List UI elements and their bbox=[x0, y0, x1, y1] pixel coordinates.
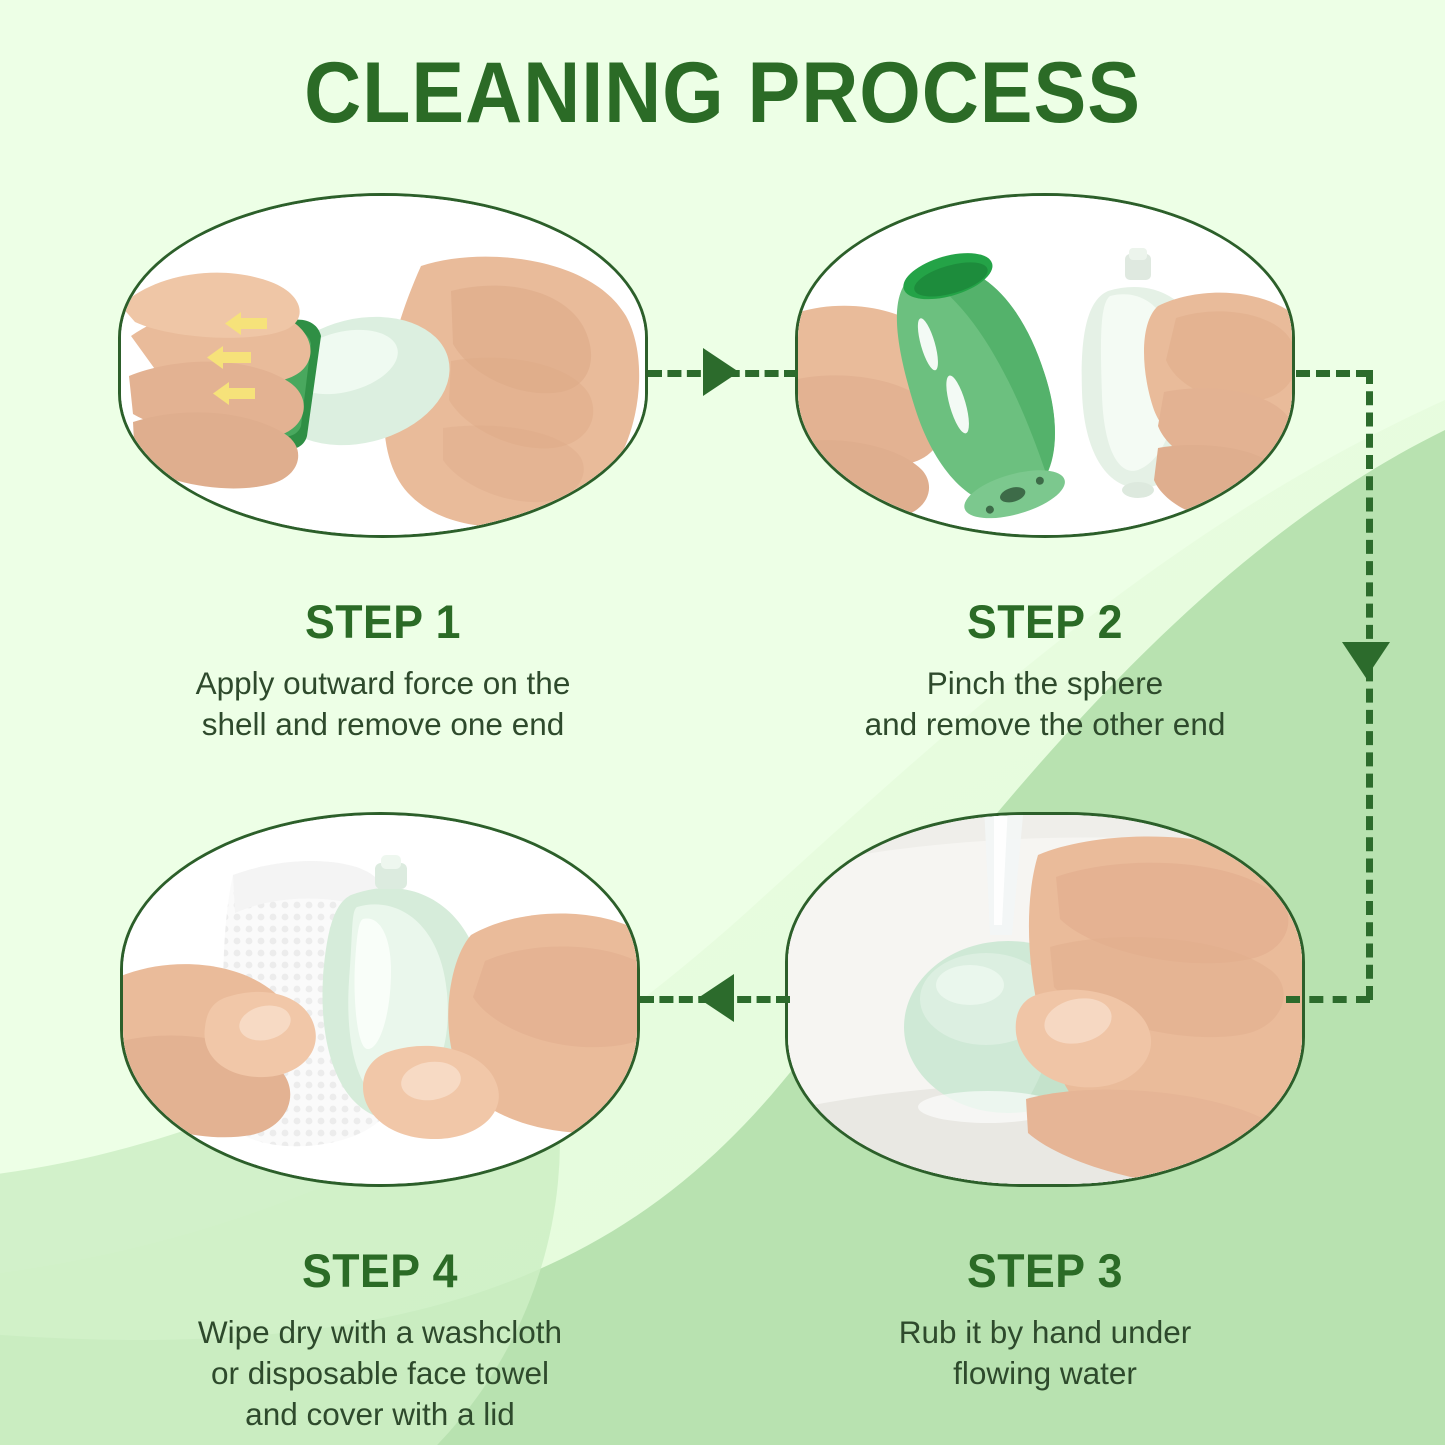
step-card-4: STEP 4 Wipe dry with a washcloth or disp… bbox=[120, 812, 640, 1435]
connector-1-to-2-arrowhead bbox=[703, 348, 739, 396]
step-3-title: STEP 3 bbox=[798, 1243, 1292, 1298]
step-2-description: Pinch the sphere and remove the other en… bbox=[795, 663, 1295, 745]
connector-2-to-3-top-segment bbox=[1296, 370, 1370, 377]
connector-2-to-3-bottom-segment bbox=[1286, 996, 1370, 1003]
step-4-illustration bbox=[123, 815, 640, 1187]
step-3-photo bbox=[785, 812, 1305, 1187]
step-2-illustration bbox=[798, 196, 1295, 538]
page-title: CLEANING PROCESS bbox=[58, 44, 1387, 143]
connector-3-to-4-arrowhead bbox=[698, 974, 734, 1022]
step-card-3: STEP 3 Rub it by hand under flowing wate… bbox=[785, 812, 1305, 1394]
step-3-illustration bbox=[788, 815, 1305, 1187]
step-1-title: STEP 1 bbox=[131, 594, 635, 649]
step-card-2: STEP 2 Pinch the sphere and remove the o… bbox=[795, 193, 1295, 745]
connector-2-to-3-arrowhead bbox=[1342, 642, 1390, 678]
connector-2-to-3 bbox=[1296, 370, 1370, 1000]
step-2-photo bbox=[795, 193, 1295, 538]
step-4-description: Wipe dry with a washcloth or disposable … bbox=[120, 1312, 640, 1435]
step-1-photo bbox=[118, 193, 648, 538]
step-1-illustration bbox=[121, 196, 648, 538]
connector-1-to-2 bbox=[648, 370, 798, 374]
step-card-1: STEP 1 Apply outward force on the shell … bbox=[118, 193, 648, 745]
step-3-description: Rub it by hand under flowing water bbox=[785, 1312, 1305, 1394]
step-1-description: Apply outward force on the shell and rem… bbox=[118, 663, 648, 745]
connector-3-to-4 bbox=[640, 996, 790, 1000]
step-4-title: STEP 4 bbox=[133, 1243, 627, 1298]
step-4-photo bbox=[120, 812, 640, 1187]
connector-2-to-3-vertical-segment bbox=[1366, 370, 1373, 1000]
step-2-title: STEP 2 bbox=[808, 594, 1283, 649]
sphere-bottom-nub bbox=[1122, 482, 1154, 498]
